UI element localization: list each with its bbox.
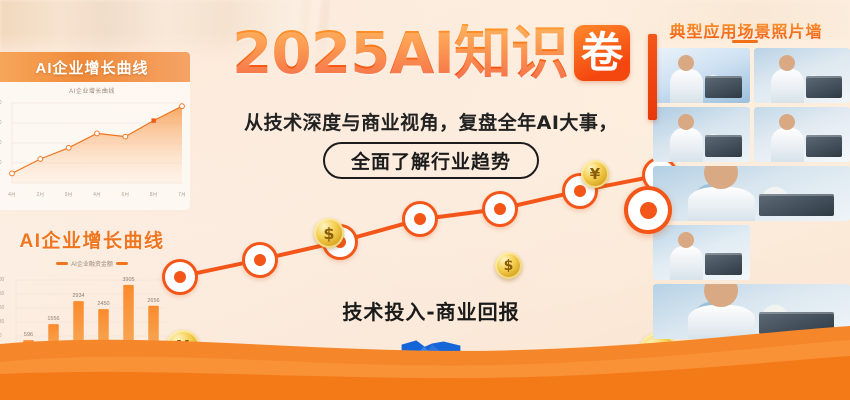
trend-node: [242, 242, 278, 278]
photo-equipment: [705, 253, 742, 275]
photo-subject-head: [779, 55, 795, 71]
trend-node: [402, 201, 438, 237]
legend-swatch-2: [116, 262, 128, 265]
photo-subject-head: [704, 284, 737, 307]
photo-subject-head: [704, 166, 737, 189]
trend-node-dot: [574, 185, 586, 197]
accent-bar-left-of-wall: [648, 34, 657, 120]
bar-value-label: 2934: [72, 293, 84, 299]
trend-node-dot: [254, 254, 266, 266]
poster-headline: 2025AI知识 卷: [196, 22, 666, 84]
trend-node: [162, 259, 198, 295]
bar-value-label: 2450: [97, 301, 109, 307]
photo-equipment: [806, 76, 843, 98]
coin-dollar-1: $: [314, 218, 344, 248]
trend-node-dot: [414, 213, 426, 225]
coin-yen-1: ¥: [581, 160, 609, 188]
area-y-tick: 20: [0, 160, 2, 166]
trend-node-dot: [174, 271, 186, 283]
photo-equipment: [705, 76, 742, 98]
area-x-tick: 6月: [121, 191, 129, 198]
photo-lab-technician: [754, 48, 850, 103]
photo-office-analyst: [754, 107, 850, 162]
photo-wall-title: 典型应用场景照片墙: [648, 18, 844, 42]
poster-subtitle: 从技术深度与商业视角，复盘全年AI大事，: [196, 108, 666, 135]
photo-subject: [771, 69, 804, 103]
area-y-tick: 60: [0, 120, 2, 126]
legend-swatch: [56, 262, 68, 265]
photo-doctors-consult: [653, 48, 750, 103]
card-top-header: AI企业增长曲线: [0, 52, 190, 82]
poster-canvas: AI企业增长曲线 AI企业增长曲线 806040204月2月9月4月6月8月7月…: [0, 0, 850, 400]
area-x-tick: 4月: [8, 191, 16, 198]
bar-y-tick: 700: [0, 277, 4, 283]
photo-subject: [688, 187, 755, 221]
area-x-tick: 9月: [65, 191, 73, 198]
main-trend-chart: [150, 150, 690, 320]
photo-medical-device: [653, 107, 750, 162]
area-x-tick: 2月: [36, 191, 44, 198]
photo-subject: [670, 128, 703, 162]
coin-dollar-2: $: [495, 252, 522, 279]
photo-equipment: [705, 135, 742, 157]
trend-node-highlight: [624, 186, 672, 234]
trend-node-dot: [494, 203, 506, 215]
headline-main-text: 2025AI知识: [232, 24, 568, 82]
area-y-tick: 80: [0, 100, 2, 106]
photo-engineer-laptop: [653, 225, 750, 280]
bottom-wave-band: [0, 310, 850, 400]
photo-subject: [771, 128, 804, 162]
photo-factory-line: [653, 166, 850, 221]
legend-label: AI企业融资金额: [71, 259, 113, 268]
trend-node: [482, 191, 518, 227]
photo-subject: [670, 246, 703, 280]
photo-subject-head: [779, 114, 795, 130]
photo-equipment: [806, 135, 843, 157]
photo-wall-underline: [732, 40, 758, 43]
photo-subject: [670, 69, 703, 103]
photo-equipment: [759, 194, 834, 216]
card-top-chart-title: AI企业增长曲线: [0, 86, 190, 95]
headline-boxed-char: 卷: [574, 25, 630, 81]
bar-y-tick: 650: [0, 291, 4, 297]
area-y-tick: 40: [0, 140, 2, 146]
area-x-tick: 4月: [93, 191, 101, 198]
bar-value-label: 3905: [122, 277, 134, 283]
